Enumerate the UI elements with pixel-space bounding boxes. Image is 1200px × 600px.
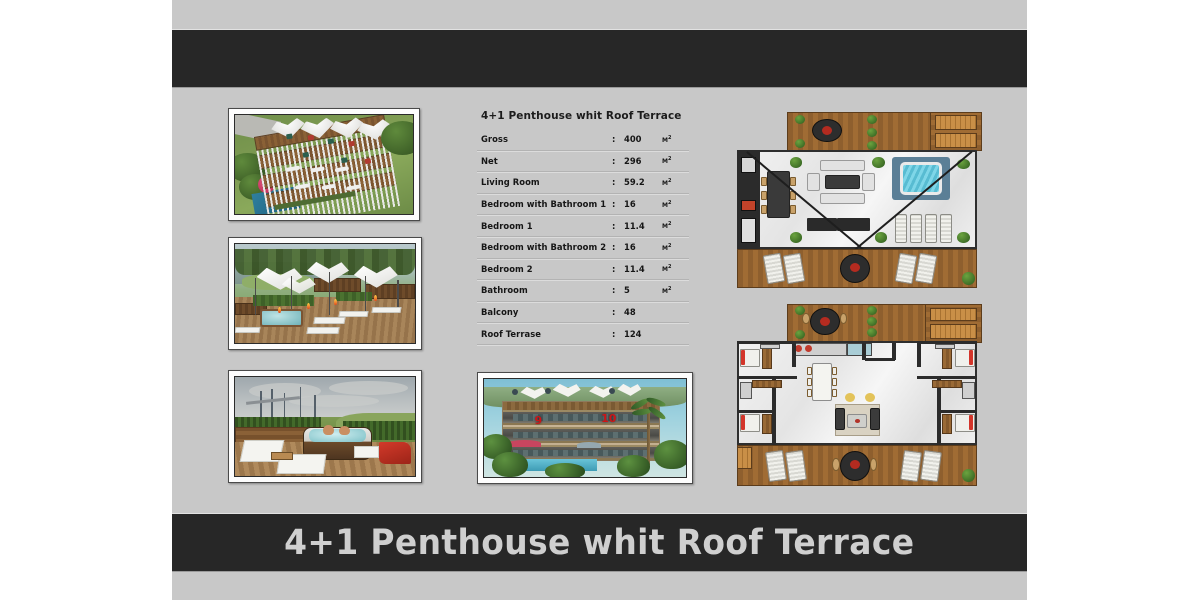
table-row: Bedroom 1 : 11.4 M2: [477, 215, 689, 237]
spec-colon: :: [612, 199, 624, 209]
spec-colon: :: [612, 242, 624, 252]
spec-colon: :: [612, 285, 624, 295]
spec-colon: :: [612, 329, 624, 339]
spec-label: Bedroom with Bathroom 2: [477, 242, 612, 252]
spec-colon: :: [612, 264, 624, 274]
facade-label-10: 10: [601, 412, 616, 425]
spec-colon: :: [612, 307, 624, 317]
table-row: Gross : 400 M2: [477, 129, 689, 151]
spec-colon: :: [612, 177, 624, 187]
spec-value: 16: [624, 242, 662, 252]
top-banner: [172, 30, 1027, 87]
spec-label: Balcony: [477, 307, 612, 317]
spec-label: Bathroom: [477, 285, 612, 295]
bottom-banner: 4+1 Penthouse whit Roof Terrace: [172, 514, 1027, 571]
spec-value: 11.4: [624, 264, 662, 274]
plan-apartment-floor: [732, 302, 982, 488]
spec-unit: M2: [662, 243, 671, 252]
spec-unit: M2: [662, 135, 671, 144]
table-row: Bedroom with Bathroom 2 : 16 M2: [477, 237, 689, 259]
spec-unit: M2: [662, 178, 671, 187]
spec-unit: M2: [662, 200, 671, 209]
facade-label-9: 9: [535, 414, 543, 427]
spec-value: 400: [624, 134, 662, 144]
table-row: Roof Terrase : 124: [477, 323, 689, 345]
spec-unit: M2: [662, 221, 671, 230]
spec-value: 48: [624, 307, 662, 317]
table-row: Living Room : 59.2 M2: [477, 172, 689, 194]
spec-label: Bedroom 2: [477, 264, 612, 274]
spec-table-title: 4+1 Penthouse whit Roof Terrace: [481, 110, 689, 122]
presentation-page: 9 10 4+1 Penthouse whit Roof Terrace Gro…: [172, 0, 1027, 600]
table-row: Net : 296 M2: [477, 151, 689, 173]
photo-jacuzzi-deck: [228, 370, 422, 483]
table-row: Bedroom with Bathroom 1 : 16 M2: [477, 194, 689, 216]
photo-building-facade: 9 10: [477, 372, 693, 484]
spec-colon: :: [612, 221, 624, 231]
spec-value: 296: [624, 156, 662, 166]
table-row: Bedroom 2 : 11.4 M2: [477, 259, 689, 281]
photo-roof-terrace: [228, 237, 422, 350]
spec-label: Roof Terrase: [477, 329, 612, 339]
spec-unit: M2: [662, 156, 671, 165]
spec-value: 11.4: [624, 221, 662, 231]
spec-value: 59.2: [624, 177, 662, 187]
page-title: 4+1 Penthouse whit Roof Terrace: [284, 523, 914, 563]
spec-label: Bedroom 1: [477, 221, 612, 231]
spec-colon: :: [612, 134, 624, 144]
spec-label: Bedroom with Bathroom 1: [477, 199, 612, 209]
specification-table: 4+1 Penthouse whit Roof Terrace Gross : …: [477, 110, 689, 345]
spec-value: 124: [624, 329, 662, 339]
spec-value: 5: [624, 285, 662, 295]
spec-label: Net: [477, 156, 612, 166]
spec-label: Gross: [477, 134, 612, 144]
spec-unit: M2: [662, 264, 671, 273]
spec-colon: :: [612, 156, 624, 166]
spec-unit: M2: [662, 286, 671, 295]
table-row: Bathroom : 5 M2: [477, 280, 689, 302]
plan-roof-terrace: [732, 110, 982, 290]
table-row: Balcony : 48: [477, 302, 689, 324]
spec-label: Living Room: [477, 177, 612, 187]
photo-aerial-view: [228, 108, 420, 221]
spec-value: 16: [624, 199, 662, 209]
